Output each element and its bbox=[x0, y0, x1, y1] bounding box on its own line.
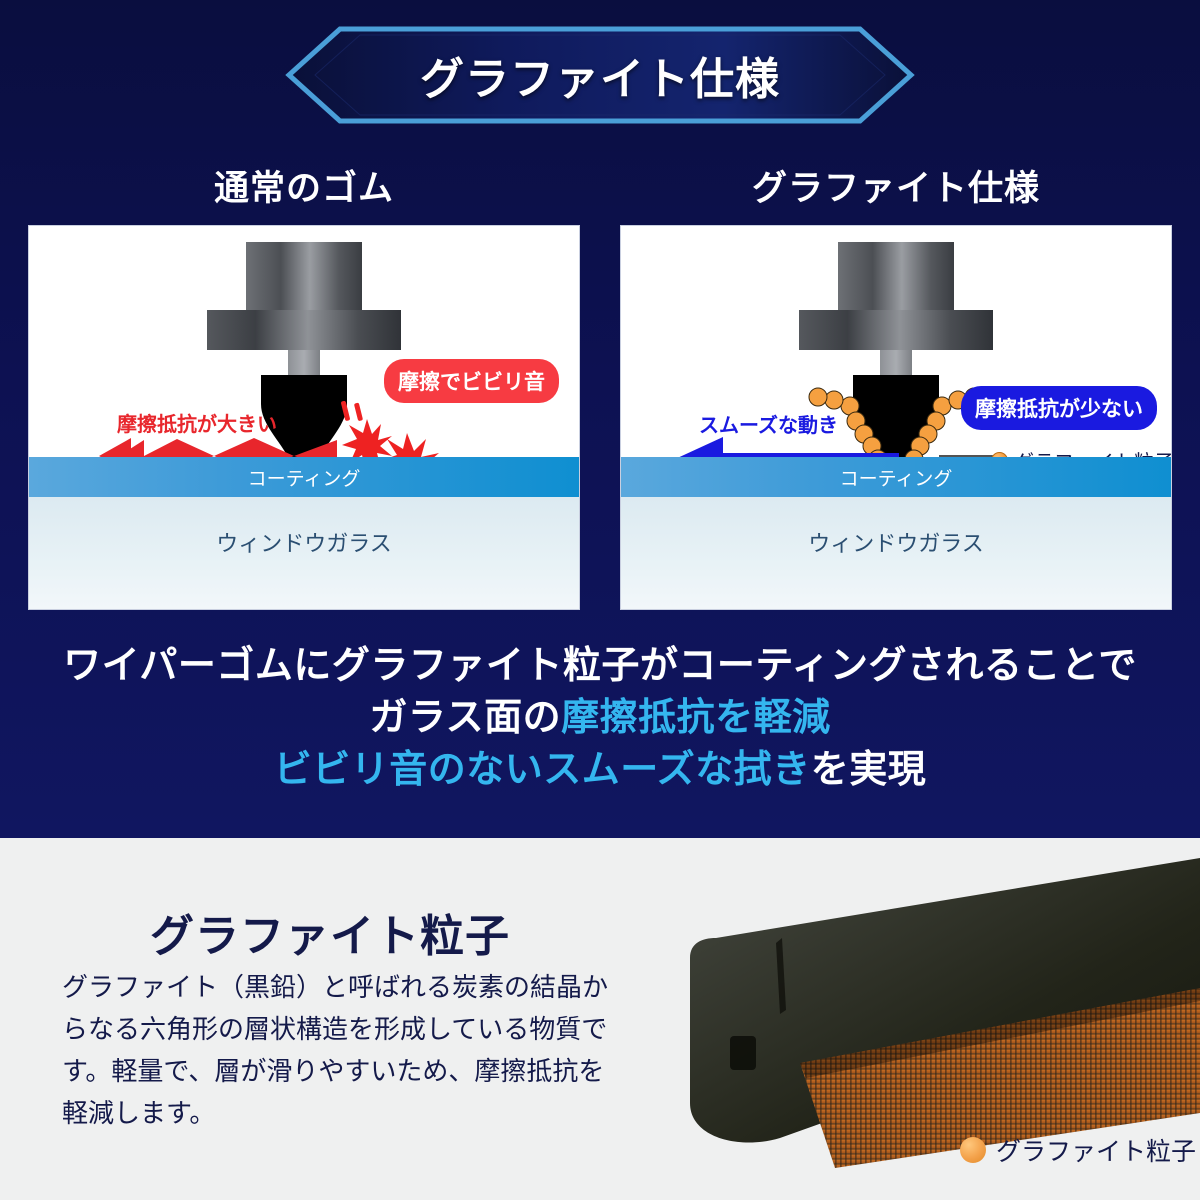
left-arrow-label: 摩擦抵抗が大きい bbox=[117, 408, 277, 437]
panel-graphite: スムーズな動き 摩擦抵抗が少ない グラファイト粒子 コーティング ウィンドウガラ… bbox=[620, 225, 1172, 610]
top-section: グラファイト仕様 通常のゴム グラファイト仕様 bbox=[0, 0, 1200, 838]
summary-line-1: ワイパーゴムにグラファイト粒子がコーティングされることで bbox=[0, 640, 1200, 692]
infographic-page: グラファイト仕様 通常のゴム グラファイト仕様 bbox=[0, 0, 1200, 1200]
summary-line-2: ガラス面の摩擦抵抗を軽減 bbox=[0, 692, 1200, 744]
left-panel-heading: 通常のゴム bbox=[28, 160, 580, 211]
summary-line-2b: 摩擦抵抗を軽減 bbox=[561, 697, 831, 739]
graphite-legend: グラファイト粒子 bbox=[960, 1132, 1196, 1168]
left-glass-layer: ウィンドウガラス bbox=[29, 497, 579, 609]
summary-line-2a: ガラス面の bbox=[369, 697, 561, 739]
summary-line-3a: ビビリ音のないスムーズな拭き bbox=[274, 749, 811, 791]
bottom-heading: グラファイト粒子 bbox=[150, 900, 510, 964]
summary-line-3: ビビリ音のないスムーズな拭きを実現 bbox=[0, 744, 1200, 796]
legend-particle-icon bbox=[960, 1137, 986, 1163]
bottom-body-text: グラファイト（黒鉛）と呼ばれる炭素の結晶からなる六角形の層状構造を形成している物… bbox=[62, 966, 627, 1134]
panel-normal-rubber: 摩擦抵抗が大きい 摩擦でビビリ音 コーティング ウィンドウガラス bbox=[28, 225, 580, 610]
legend-label: グラファイト粒子 bbox=[996, 1132, 1196, 1168]
right-glass-layer: ウィンドウガラス bbox=[621, 497, 1171, 609]
summary-line-3b: を実現 bbox=[811, 749, 927, 791]
right-panel-heading: グラファイト仕様 bbox=[620, 160, 1172, 211]
left-coating-layer: コーティング bbox=[29, 457, 579, 497]
summary-text: ワイパーゴムにグラファイト粒子がコーティングされることで ガラス面の摩擦抵抗を軽… bbox=[0, 640, 1200, 796]
banner-title-text: グラファイト仕様 bbox=[285, 25, 915, 125]
right-arrow-label: スムーズな動き bbox=[699, 409, 838, 438]
right-badge: 摩擦抵抗が少ない bbox=[961, 386, 1157, 430]
bottom-section: グラファイト粒子 グラファイト（黒鉛）と呼ばれる炭素の結晶からなる六角形の層状構… bbox=[0, 838, 1200, 1200]
left-badge: 摩擦でビビリ音 bbox=[384, 359, 559, 403]
right-coating-layer: コーティング bbox=[621, 457, 1171, 497]
title-banner: グラファイト仕様 bbox=[285, 25, 915, 125]
